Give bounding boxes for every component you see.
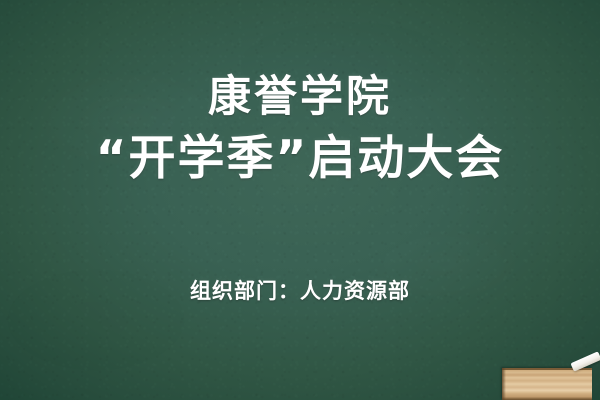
slide-title-line-1: 康誉学院 [0,72,600,122]
slide-title-line-2: “开学季”启动大会 [0,131,600,187]
slide-text-block: 康誉学院 “开学季”启动大会 组织部门：人力资源部 [0,0,600,400]
slide-subtitle-department: 组织部门：人力资源部 [0,277,600,305]
chalk-ledge-left-cap [502,368,506,400]
chalk-ledge-icon [502,368,592,400]
presentation-slide: 康誉学院 “开学季”启动大会 组织部门：人力资源部 [0,0,600,400]
